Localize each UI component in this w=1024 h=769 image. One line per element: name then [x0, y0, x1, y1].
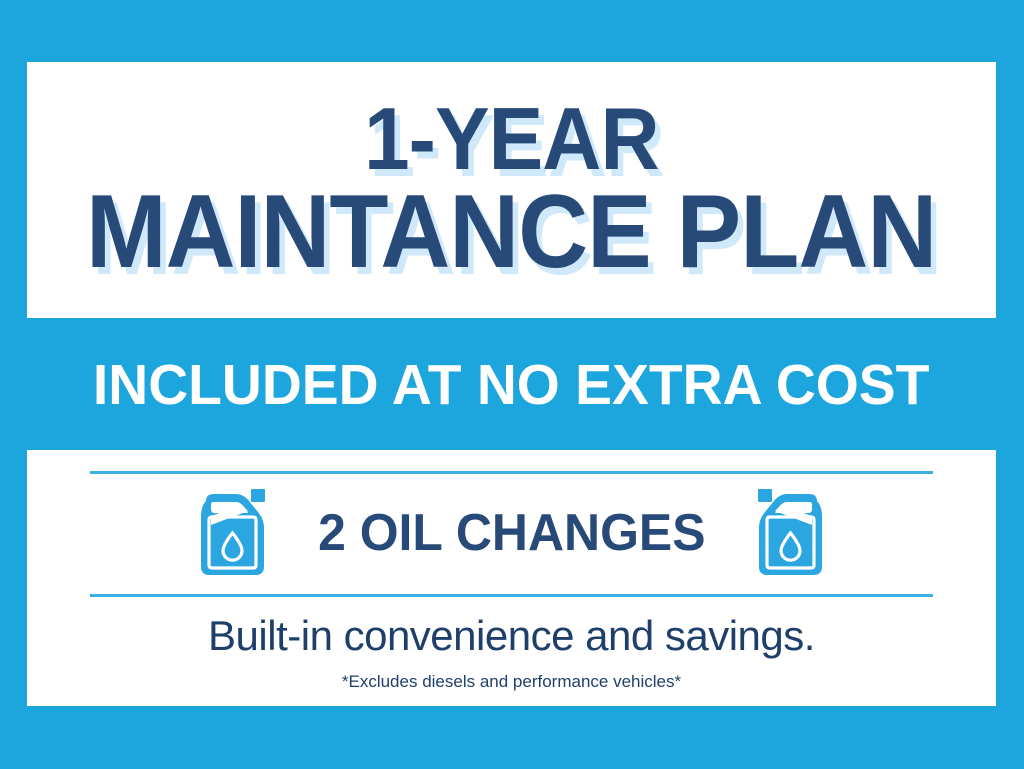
- headline-line-2: MAINTANCE PLAN: [86, 183, 936, 283]
- divider-bottom: [90, 594, 933, 597]
- feature-row: 2 OIL CHANGES: [27, 478, 996, 588]
- subtitle-band: INCLUDED AT NO EXTRA COST: [27, 330, 996, 440]
- oil-can-icon-left: [196, 487, 272, 579]
- headline-line-1: 1-YEAR: [364, 97, 659, 181]
- disclaimer-text: *Excludes diesels and performance vehicl…: [27, 672, 996, 692]
- subtitle-text: INCLUDED AT NO EXTRA COST: [93, 352, 930, 418]
- feature-label: 2 OIL CHANGES: [318, 503, 705, 563]
- divider-top: [90, 471, 933, 474]
- tagline-text: Built-in convenience and savings.: [27, 612, 996, 660]
- maintenance-plan-poster: 1-YEAR MAINTANCE PLAN INCLUDED AT NO EXT…: [0, 0, 1024, 769]
- details-panel: 2 OIL CHANGES Built-in convenience and s…: [27, 450, 996, 706]
- oil-can-icon-right: [751, 487, 827, 579]
- headline-panel: 1-YEAR MAINTANCE PLAN: [27, 62, 996, 318]
